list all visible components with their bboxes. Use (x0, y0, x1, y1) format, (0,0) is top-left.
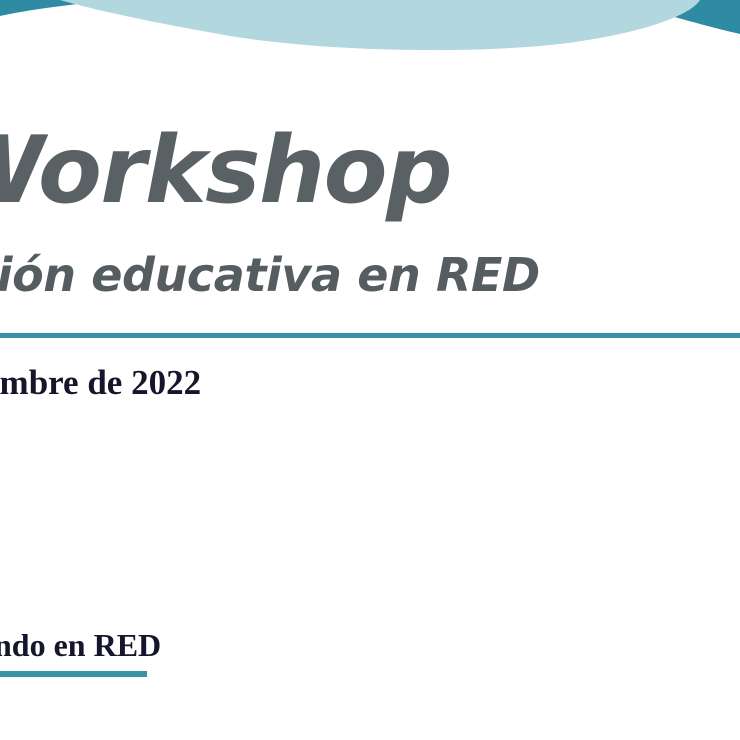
brand-label: Pensando en RED (0, 627, 734, 664)
page-title: Workshop (0, 124, 740, 217)
presentation-slide: Workshop Gestión educativa en RED septie… (0, 0, 740, 740)
light-teal-arc (60, 0, 700, 50)
dark-teal-arc-left (0, 0, 120, 16)
page-subtitle: Gestión educativa en RED (0, 252, 740, 298)
dark-teal-arc-right (612, 0, 740, 34)
slide-date: septiembre de 2022 (0, 363, 734, 403)
teal-divider (0, 333, 740, 338)
teal-brand-underline (0, 671, 147, 677)
